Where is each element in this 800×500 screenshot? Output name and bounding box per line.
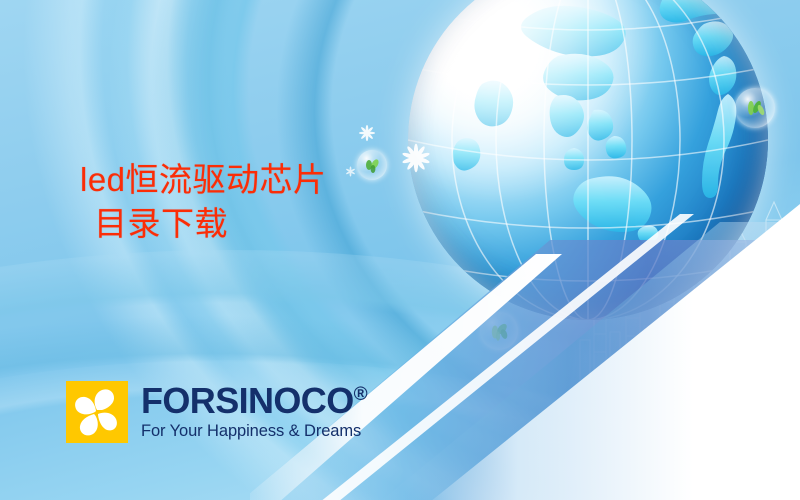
bubble-small-left — [357, 150, 387, 180]
green-leaf-icon — [357, 150, 387, 180]
logo-wordmark: FORSINOCO® For Your Happiness & Dreams — [141, 383, 368, 440]
brand-name: FORSINOCO® — [141, 383, 368, 419]
green-leaf-icon — [735, 88, 775, 128]
registered-trademark-icon: ® — [354, 384, 368, 405]
flower-small-upper-icon — [358, 124, 376, 142]
bubble-top-right — [735, 88, 775, 128]
flower-tiny-icon — [345, 166, 356, 177]
earth-globe — [408, 0, 768, 320]
promo-banner: led恒流驱动芯片 目录下载 FORSINOCO® For Your Happi… — [0, 0, 800, 500]
brand-tagline: For Your Happiness & Dreams — [141, 422, 368, 440]
company-logo: FORSINOCO® For Your Happiness & Dreams — [66, 381, 368, 443]
brand-text: FORSINOCO — [141, 380, 354, 421]
headline-line-2: 目录下载 — [80, 202, 327, 246]
pinwheel-logo-icon — [66, 381, 128, 443]
four-petal-pinwheel-icon — [66, 381, 128, 443]
page-title: led恒流驱动芯片 目录下载 — [80, 158, 327, 246]
headline-line-1: led恒流驱动芯片 — [80, 158, 327, 202]
bubble-green-center — [480, 312, 518, 350]
green-leaf-icon — [480, 312, 518, 350]
